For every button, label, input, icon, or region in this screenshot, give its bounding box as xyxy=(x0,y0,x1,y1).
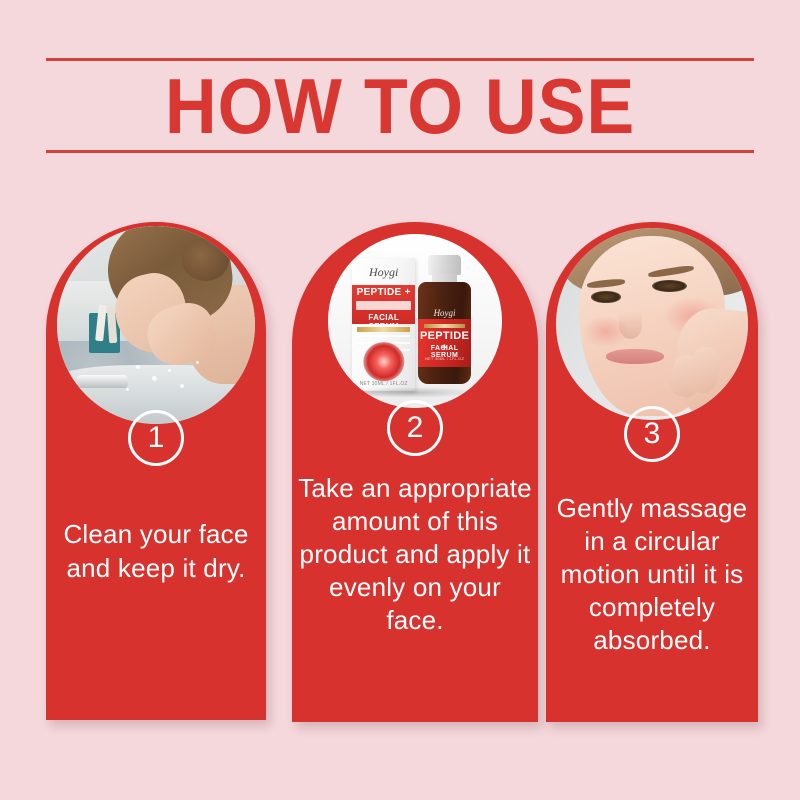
step-number: 1 xyxy=(148,421,165,455)
box-volume-label: NET 30ML / 1FL.OZ xyxy=(352,381,415,387)
bottle-body: Hoygi PEPTIDE + FACIAL SERUM NET 30ML / … xyxy=(418,282,470,384)
bottle-gold-band xyxy=(424,324,466,328)
step-badge-3: 3 xyxy=(624,406,680,462)
product-ground-shadow xyxy=(345,387,477,397)
product-bottle: Hoygi PEPTIDE + FACIAL SERUM NET 30ML / … xyxy=(418,255,470,384)
photo-massage-face-image xyxy=(556,228,748,420)
water-droplet xyxy=(168,369,171,372)
step-photo-1 xyxy=(53,222,259,428)
water-droplet xyxy=(196,361,199,364)
product-box: Hoygi PEPTIDE + FACIAL SERUM NET 30ML / … xyxy=(352,258,415,390)
bottle-brand-label: Hoygi xyxy=(418,308,470,318)
faucet-icon xyxy=(77,375,128,389)
eye xyxy=(591,291,622,303)
step-caption-2: Take an appropriate amount of this produ… xyxy=(297,472,533,637)
box-subtitle-strip xyxy=(356,301,411,310)
bottle-pump-cap xyxy=(428,255,461,276)
infographic-canvas: HOW TO USE xyxy=(0,0,800,800)
steps-row: 1 Clean your face and keep it dry. Hoygi… xyxy=(0,0,800,800)
step-number: 2 xyxy=(407,411,424,445)
water-droplet xyxy=(136,365,140,369)
photo-washing-face-image xyxy=(57,226,255,424)
step-caption-3: Gently massage in a circular motion unti… xyxy=(550,492,754,657)
bottle-volume-label: NET 30ML / 1FL.OZ xyxy=(418,356,470,361)
lips xyxy=(606,349,664,364)
product-image: Hoygi PEPTIDE + FACIAL SERUM NET 30ML / … xyxy=(328,234,502,408)
step-photo-3 xyxy=(552,224,752,424)
box-brand-label: Hoygi xyxy=(352,265,415,280)
step-badge-1: 1 xyxy=(128,410,184,466)
step-photo-2: Hoygi PEPTIDE + FACIAL SERUM NET 30ML / … xyxy=(324,230,506,412)
box-serum-orb-graphic xyxy=(363,342,404,382)
box-product-name: PEPTIDE + xyxy=(352,287,415,298)
step-badge-2: 2 xyxy=(387,400,443,456)
step-number: 3 xyxy=(644,417,661,451)
eye xyxy=(652,280,687,292)
step-caption-1: Clean your face and keep it dry. xyxy=(50,517,261,585)
box-gold-band xyxy=(357,327,410,332)
